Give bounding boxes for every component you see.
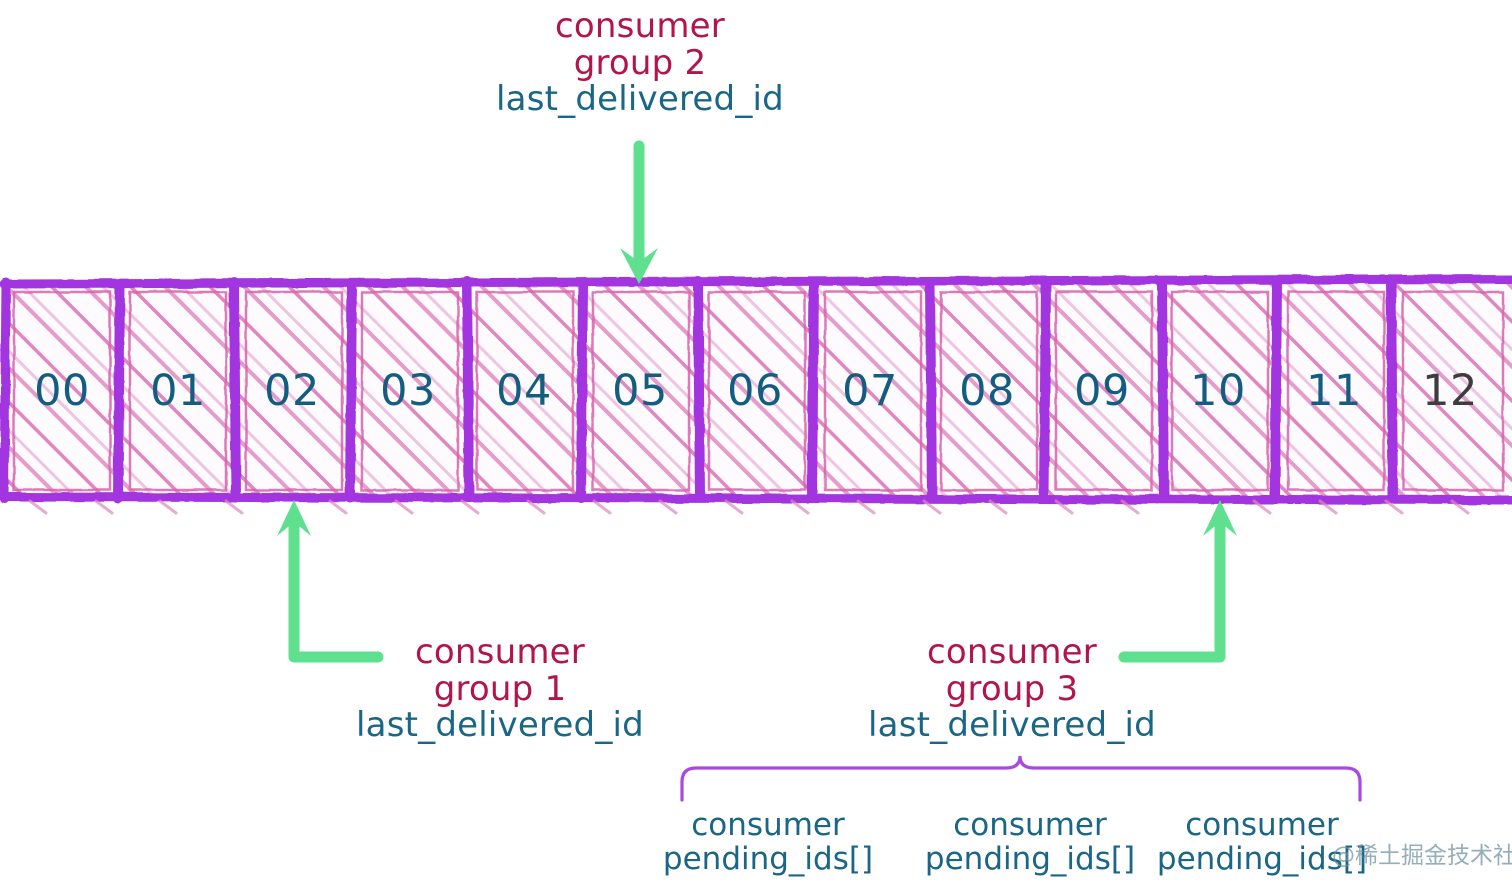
pending2-line1: consumer	[910, 808, 1150, 842]
stream-cell-12: 12	[1400, 366, 1500, 416]
group1-line3: last_delivered_id	[300, 707, 700, 744]
stream-cell-06: 06	[705, 366, 805, 416]
stream-cell-04-label: 04	[496, 366, 552, 416]
stream-cell-11-label: 11	[1306, 366, 1362, 416]
stream-cell-07: 07	[820, 366, 920, 416]
pending1-line2: pending_ids[]	[648, 842, 888, 876]
stream-cell-08: 08	[937, 366, 1037, 416]
label-pending-ids-2: consumer pending_ids[]	[910, 808, 1150, 876]
stream-cell-00: 00	[12, 366, 112, 416]
group1-line1: consumer	[300, 634, 700, 671]
stream-cell-05: 05	[590, 366, 690, 416]
diagram-vector-layer	[0, 0, 1512, 888]
diagram-canvas: consumer group 2 last_delivered_id consu…	[0, 0, 1512, 888]
group2-line2: group 2	[440, 45, 840, 82]
watermark: @稀土掘金技术社区	[1332, 836, 1512, 870]
stream-cell-02: 02	[242, 366, 342, 416]
stream-cell-01: 01	[128, 366, 228, 416]
label-consumer-group-1: consumer group 1 last_delivered_id	[300, 634, 700, 744]
label-pending-ids-1: consumer pending_ids[]	[648, 808, 888, 876]
label-consumer-group-2: consumer group 2 last_delivered_id	[440, 8, 840, 118]
stream-cell-11: 11	[1284, 366, 1384, 416]
group2-line3: last_delivered_id	[440, 81, 840, 118]
stream-cell-09: 09	[1052, 366, 1152, 416]
arrow-group2-to-cell05	[620, 146, 658, 284]
group3-line2: group 3	[812, 671, 1212, 708]
group3-line1: consumer	[812, 634, 1212, 671]
stream-cell-09-label: 09	[1074, 366, 1130, 416]
pending1-line1: consumer	[648, 808, 888, 842]
stream-cell-05-label: 05	[612, 366, 668, 416]
stream-cell-00-label: 00	[34, 366, 90, 416]
stream-cell-10-label: 10	[1190, 366, 1246, 416]
stream-cell-02-label: 02	[264, 366, 320, 416]
stream-cell-07-label: 07	[842, 366, 898, 416]
stream-cell-10: 10	[1168, 366, 1268, 416]
stream-cell-03-label: 03	[380, 366, 436, 416]
stream-cell-01-label: 01	[150, 366, 206, 416]
group2-line1: consumer	[440, 8, 840, 45]
stream-cell-12-label: 12	[1422, 366, 1478, 416]
pending2-line2: pending_ids[]	[910, 842, 1150, 876]
group1-line2: group 1	[300, 671, 700, 708]
stream-cell-03: 03	[358, 366, 458, 416]
label-consumer-group-3: consumer group 3 last_delivered_id	[812, 634, 1212, 744]
stream-cell-04: 04	[474, 366, 574, 416]
stream-cell-06-label: 06	[727, 366, 783, 416]
stream-cell-08-label: 08	[959, 366, 1015, 416]
group3-line3: last_delivered_id	[812, 707, 1212, 744]
pending-ids-brace	[682, 756, 1360, 800]
